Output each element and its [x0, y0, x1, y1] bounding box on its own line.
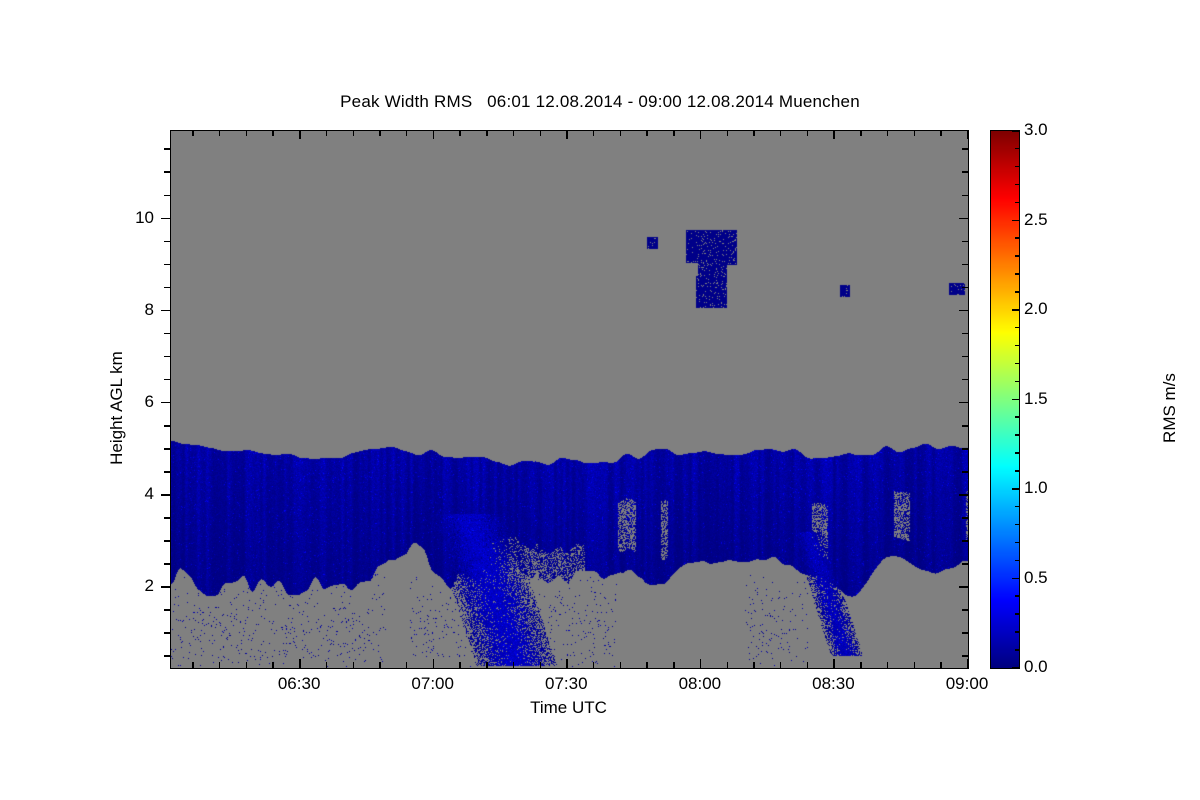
colorbar-tick-minor — [1015, 452, 1020, 454]
x-tick-major-top — [967, 130, 969, 139]
x-tick-major — [299, 659, 301, 668]
y-tick-minor-right — [962, 148, 968, 150]
y-tick-minor — [164, 563, 170, 565]
x-tick-major — [566, 659, 568, 668]
x-tick-minor-top — [513, 130, 515, 136]
y-tick-minor — [164, 655, 170, 657]
y-tick-minor — [164, 471, 170, 473]
colorbar-tick — [1012, 130, 1020, 132]
colorbar-tick-label: 1.0 — [1024, 478, 1048, 498]
x-tick-label: 07:30 — [545, 674, 588, 694]
colorbar-tick-minor — [1015, 237, 1020, 239]
y-tick-minor — [164, 264, 170, 266]
colorbar-tick-label: 0.5 — [1024, 568, 1048, 588]
y-tick-minor-right — [962, 540, 968, 542]
colorbar-tick-minor — [1015, 506, 1020, 508]
y-tick-minor — [164, 609, 170, 611]
y-tick-minor-right — [962, 379, 968, 381]
x-tick-minor — [219, 662, 221, 668]
colorbar-tick — [1012, 578, 1020, 580]
colorbar-tick-minor — [1015, 542, 1020, 544]
y-tick-major — [161, 494, 170, 496]
x-tick-minor-top — [540, 130, 542, 136]
y-tick-minor-right — [962, 609, 968, 611]
x-tick-minor-top — [860, 130, 862, 136]
x-tick-minor — [326, 662, 328, 668]
x-tick-minor-top — [887, 130, 889, 136]
colorbar-tick-minor — [1015, 595, 1020, 597]
x-tick-minor-top — [914, 130, 916, 136]
y-tick-label: 10 — [135, 208, 154, 228]
x-tick-minor — [379, 662, 381, 668]
heatmap-image — [171, 131, 968, 668]
y-tick-minor-right — [962, 241, 968, 243]
x-tick-minor — [406, 662, 408, 668]
colorbar-tick-label: 2.5 — [1024, 210, 1048, 230]
x-tick-minor — [620, 662, 622, 668]
colorbar-tick-label: 3.0 — [1024, 120, 1048, 140]
x-tick-label: 07:00 — [411, 674, 454, 694]
figure-canvas: Peak Width RMS 06:01 12.08.2014 - 09:00 … — [0, 0, 1200, 800]
y-tick-major — [161, 310, 170, 312]
y-tick-major-right — [959, 402, 968, 404]
colorbar-tick — [1012, 399, 1020, 401]
x-tick-minor-top — [940, 130, 942, 136]
y-tick-minor — [164, 148, 170, 150]
colorbar-tick-minor — [1015, 470, 1020, 472]
x-tick-minor-top — [326, 130, 328, 136]
y-tick-major — [161, 402, 170, 404]
colorbar-tick-minor — [1015, 649, 1020, 651]
x-tick-minor — [780, 662, 782, 668]
x-tick-minor-top — [673, 130, 675, 136]
y-tick-minor — [164, 195, 170, 197]
y-tick-minor-right — [962, 632, 968, 634]
x-tick-minor-top — [246, 130, 248, 136]
x-tick-major — [967, 659, 969, 668]
colorbar-tick — [1012, 309, 1020, 311]
x-tick-minor-top — [807, 130, 809, 136]
y-tick-label: 6 — [145, 392, 154, 412]
colorbar-tick-minor — [1015, 184, 1020, 186]
colorbar-tick-minor — [1015, 166, 1020, 168]
x-tick-minor-top — [486, 130, 488, 136]
x-tick-minor-top — [753, 130, 755, 136]
y-tick-minor-right — [962, 195, 968, 197]
y-tick-minor — [164, 517, 170, 519]
x-tick-major-top — [433, 130, 435, 139]
colorbar-tick-minor — [1015, 148, 1020, 150]
x-tick-minor — [246, 662, 248, 668]
x-tick-minor — [860, 662, 862, 668]
colorbar-tick-minor — [1015, 381, 1020, 383]
y-tick-minor-right — [962, 655, 968, 657]
x-tick-minor — [753, 662, 755, 668]
x-tick-major — [433, 659, 435, 668]
y-tick-minor — [164, 287, 170, 289]
x-tick-minor — [727, 662, 729, 668]
x-tick-minor — [673, 662, 675, 668]
y-tick-minor — [164, 171, 170, 173]
y-tick-major-right — [959, 494, 968, 496]
y-tick-major-right — [959, 586, 968, 588]
x-tick-minor-top — [192, 130, 194, 136]
x-tick-minor-top — [620, 130, 622, 136]
y-tick-minor-right — [962, 448, 968, 450]
x-tick-major-top — [299, 130, 301, 139]
x-tick-minor-top — [219, 130, 221, 136]
colorbar-tick-minor — [1015, 434, 1020, 436]
colorbar-tick-minor — [1015, 416, 1020, 418]
chart-title: Peak Width RMS 06:01 12.08.2014 - 09:00 … — [0, 92, 1200, 112]
y-tick-minor — [164, 241, 170, 243]
x-tick-minor — [486, 662, 488, 668]
colorbar-tick — [1012, 488, 1020, 490]
x-tick-minor-top — [353, 130, 355, 136]
colorbar-tick-minor — [1015, 255, 1020, 257]
y-tick-minor-right — [962, 471, 968, 473]
x-tick-label: 09:00 — [946, 674, 989, 694]
colorbar-tick-minor — [1015, 327, 1020, 329]
y-tick-major-right — [959, 310, 968, 312]
y-tick-minor — [164, 540, 170, 542]
y-tick-minor-right — [962, 264, 968, 266]
x-axis-title: Time UTC — [170, 698, 967, 718]
colorbar-tick-minor — [1015, 631, 1020, 633]
colorbar-tick-label: 2.0 — [1024, 299, 1048, 319]
x-tick-minor — [272, 662, 274, 668]
x-tick-label: 06:30 — [278, 674, 321, 694]
x-tick-major-top — [700, 130, 702, 139]
y-tick-minor-right — [962, 563, 968, 565]
x-tick-major — [700, 659, 702, 668]
y-tick-major — [161, 218, 170, 220]
y-tick-label: 4 — [145, 484, 154, 504]
y-tick-minor-right — [962, 333, 968, 335]
x-tick-minor — [646, 662, 648, 668]
x-tick-major-top — [833, 130, 835, 139]
x-tick-minor — [540, 662, 542, 668]
colorbar-tick-minor — [1015, 524, 1020, 526]
colorbar-tick-minor — [1015, 363, 1020, 365]
y-tick-major — [161, 586, 170, 588]
x-tick-minor-top — [379, 130, 381, 136]
colorbar-tick-label: 0.0 — [1024, 657, 1048, 677]
x-tick-label: 08:30 — [812, 674, 855, 694]
x-tick-minor-top — [459, 130, 461, 136]
colorbar-title: RMS m/s — [1160, 298, 1180, 518]
x-tick-minor — [593, 662, 595, 668]
colorbar-tick-minor — [1015, 560, 1020, 562]
colorbar-tick-minor — [1015, 273, 1020, 275]
x-tick-minor — [807, 662, 809, 668]
x-tick-minor — [459, 662, 461, 668]
y-tick-minor — [164, 356, 170, 358]
colorbar-tick-label: 1.5 — [1024, 389, 1048, 409]
x-tick-minor — [887, 662, 889, 668]
x-tick-minor — [513, 662, 515, 668]
x-tick-minor — [353, 662, 355, 668]
y-tick-label: 8 — [145, 300, 154, 320]
x-tick-minor-top — [780, 130, 782, 136]
x-tick-minor — [192, 662, 194, 668]
colorbar-tick-minor — [1015, 613, 1020, 615]
y-tick-minor — [164, 379, 170, 381]
x-tick-minor-top — [593, 130, 595, 136]
y-tick-minor-right — [962, 171, 968, 173]
colorbar-tick — [1012, 667, 1020, 669]
colorbar-tick-minor — [1015, 202, 1020, 204]
y-tick-minor — [164, 448, 170, 450]
y-tick-minor-right — [962, 517, 968, 519]
y-tick-label: 2 — [145, 576, 154, 596]
x-tick-minor — [940, 662, 942, 668]
x-tick-minor-top — [727, 130, 729, 136]
y-axis-title: Height AGL km — [107, 288, 127, 528]
y-tick-major-right — [959, 218, 968, 220]
y-tick-minor — [164, 333, 170, 335]
y-tick-minor — [164, 425, 170, 427]
x-tick-label: 08:00 — [679, 674, 722, 694]
plot-area — [170, 130, 969, 669]
x-tick-major-top — [566, 130, 568, 139]
y-tick-minor-right — [962, 425, 968, 427]
x-tick-minor-top — [272, 130, 274, 136]
x-tick-minor-top — [646, 130, 648, 136]
y-tick-minor-right — [962, 287, 968, 289]
x-tick-minor-top — [406, 130, 408, 136]
x-tick-minor — [914, 662, 916, 668]
y-tick-minor-right — [962, 356, 968, 358]
colorbar-tick — [1012, 220, 1020, 222]
colorbar-tick-minor — [1015, 345, 1020, 347]
colorbar-tick-minor — [1015, 291, 1020, 293]
y-tick-minor — [164, 632, 170, 634]
x-tick-major — [833, 659, 835, 668]
